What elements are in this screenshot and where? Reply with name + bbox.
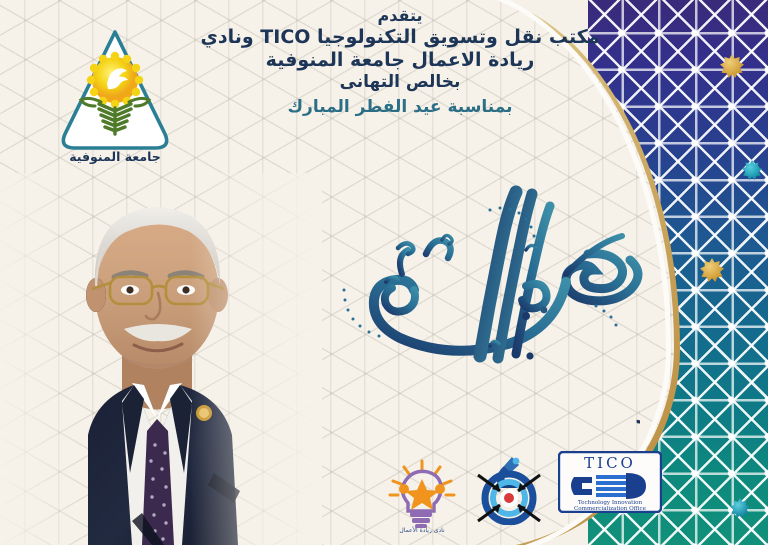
- bottom-logo-row: نادي ريادة الأعمال: [384, 451, 644, 537]
- header-line-3: ريادة الاعمال جامعة المنوفية: [190, 49, 610, 72]
- target-center: [504, 493, 514, 503]
- university-logo-caption: جامعة المنوفية: [69, 149, 161, 164]
- eid-greeting-poster: يتقدم مكتب نقل وتسويق التكنولوجيا TICO و…: [0, 0, 768, 545]
- menoufia-university-logo: جامعة المنوفية: [55, 22, 175, 167]
- entrepreneurship-club-logo: نادي ريادة الأعمال: [384, 457, 460, 537]
- header-text-block: يتقدم مكتب نقل وتسويق التكنولوجيا TICO و…: [190, 6, 610, 117]
- signature-name: أ.د/ أحمد فرج القاصد: [340, 383, 640, 435]
- header-line-1: يتقدم: [190, 6, 610, 26]
- header-line-4: بخالص التهانى: [190, 72, 610, 93]
- tico-subtitle-line2: Commercialization Office: [574, 506, 647, 512]
- header-line-5: بمناسبة عيد الفطر المبارك: [190, 97, 610, 118]
- entrepreneurship-club-caption: نادي ريادة الأعمال: [399, 526, 445, 533]
- research-target-logo: [472, 451, 546, 529]
- tico-title: TICO: [584, 454, 636, 472]
- header-line-2: مكتب نقل وتسويق التكنولوجيا TICO ونادي: [190, 26, 610, 49]
- eid-mubarak-calligraphy: [330, 178, 660, 383]
- signature-name-text: أ.د/ أحمد فرج القاصد: [635, 396, 640, 430]
- tico-logo: TICO Technology Innovation Commercializa…: [558, 451, 662, 517]
- portrait-photo: [0, 173, 322, 545]
